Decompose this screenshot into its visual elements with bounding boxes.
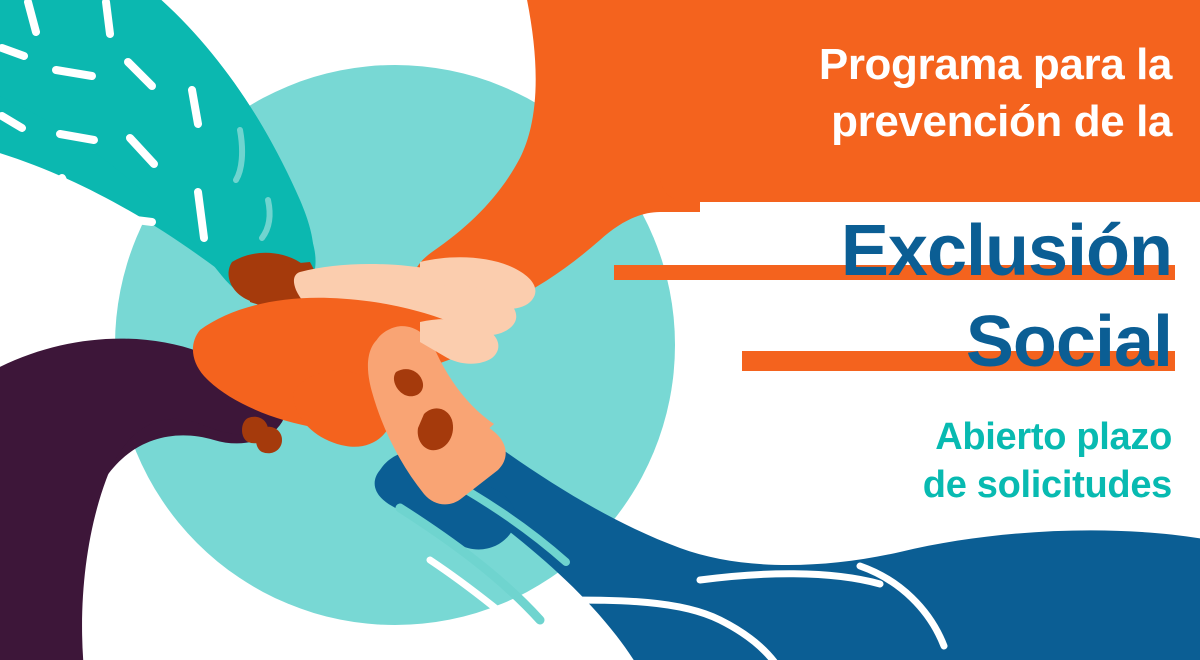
title-line-social-text: Social <box>966 302 1172 382</box>
title-line-exclusion-text: Exclusión <box>841 211 1172 291</box>
headline-band <box>660 0 1200 202</box>
subtitle: Abierto plazo de solicitudes <box>652 414 1172 509</box>
poster-canvas: Programa para la prevención de la Exclus… <box>0 0 1200 660</box>
subtitle-line-1: Abierto plazo <box>652 414 1172 462</box>
title-line-exclusion: Exclusión <box>612 212 1172 291</box>
subtitle-line-2: de solicitudes <box>652 462 1172 510</box>
finger-shade <box>256 427 282 454</box>
title-line-social: Social <box>612 303 1172 382</box>
title-block: Exclusión Social <box>612 212 1172 382</box>
